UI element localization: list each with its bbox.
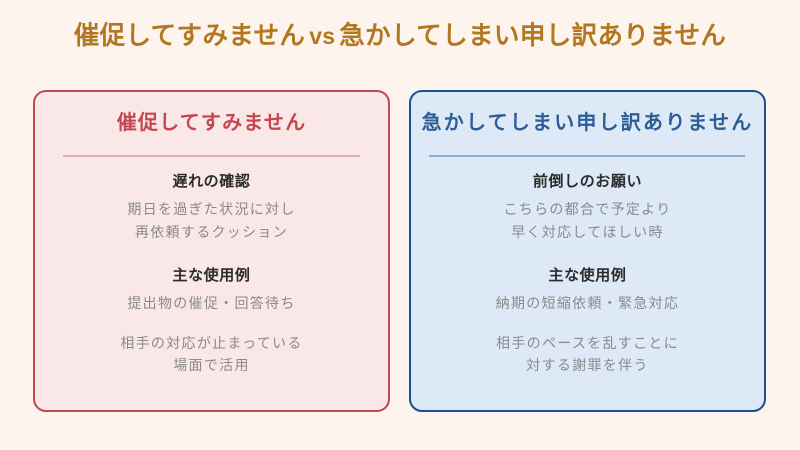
- card-left: 催促してすみません 遅れの確認 期日を過ぎた状況に対し 再依頼するクッション 主…: [33, 90, 390, 412]
- section-title: 主な使用例: [411, 266, 764, 286]
- title-left-term: 催促してすみません: [74, 22, 306, 50]
- card-left-section-1: 遅れの確認 期日を過ぎた状況に対し 再依頼するクッション: [35, 172, 388, 244]
- card-right-section-1: 前倒しのお願い こちらの都合で予定より 早く対応してほしい時: [411, 172, 764, 244]
- section-line: 相手のペースを乱すことに: [411, 332, 764, 355]
- comparison-infographic: 催促してすみませんvs急かしてしまい申し訳ありません 催促してすみません 遅れの…: [0, 0, 800, 450]
- section-line: 相手の対応が止まっている: [35, 332, 388, 355]
- card-left-heading: 催促してすみません: [35, 110, 388, 136]
- card-right-section-3: 相手のペースを乱すことに 対する謝罪を伴う: [411, 332, 764, 377]
- section-title: 主な使用例: [35, 266, 388, 286]
- card-right-divider: [429, 155, 745, 157]
- title-separator: vs: [305, 23, 339, 49]
- title-right-term: 急かしてしまい申し訳ありません: [339, 22, 726, 50]
- card-right-heading: 急かしてしまい申し訳ありません: [411, 110, 764, 136]
- card-right-body: 前倒しのお願い こちらの都合で予定より 早く対応してほしい時 主な使用例 納期の…: [411, 172, 764, 377]
- card-left-divider: [63, 155, 360, 157]
- cards-container: 催促してすみません 遅れの確認 期日を過ぎた状況に対し 再依頼するクッション 主…: [0, 90, 800, 415]
- section-title: 前倒しのお願い: [411, 172, 764, 192]
- card-left-section-2: 主な使用例 提出物の催促・回答待ち: [35, 266, 388, 315]
- section-line: 場面で活用: [35, 354, 388, 377]
- section-line: 提出物の催促・回答待ち: [35, 292, 388, 315]
- card-left-body: 遅れの確認 期日を過ぎた状況に対し 再依頼するクッション 主な使用例 提出物の催…: [35, 172, 388, 377]
- section-line: 期日を過ぎた状況に対し: [35, 198, 388, 221]
- section-title: 遅れの確認: [35, 172, 388, 192]
- section-line: 早く対応してほしい時: [411, 221, 764, 244]
- section-line: 対する謝罪を伴う: [411, 354, 764, 377]
- card-left-section-3: 相手の対応が止まっている 場面で活用: [35, 332, 388, 377]
- card-right-section-2: 主な使用例 納期の短縮依頼・緊急対応: [411, 266, 764, 315]
- section-line: 再依頼するクッション: [35, 221, 388, 244]
- section-line: こちらの都合で予定より: [411, 198, 764, 221]
- section-line: 納期の短縮依頼・緊急対応: [411, 292, 764, 315]
- page-title: 催促してすみませんvs急かしてしまい申し訳ありません: [0, 21, 800, 53]
- card-right: 急かしてしまい申し訳ありません 前倒しのお願い こちらの都合で予定より 早く対応…: [409, 90, 766, 412]
